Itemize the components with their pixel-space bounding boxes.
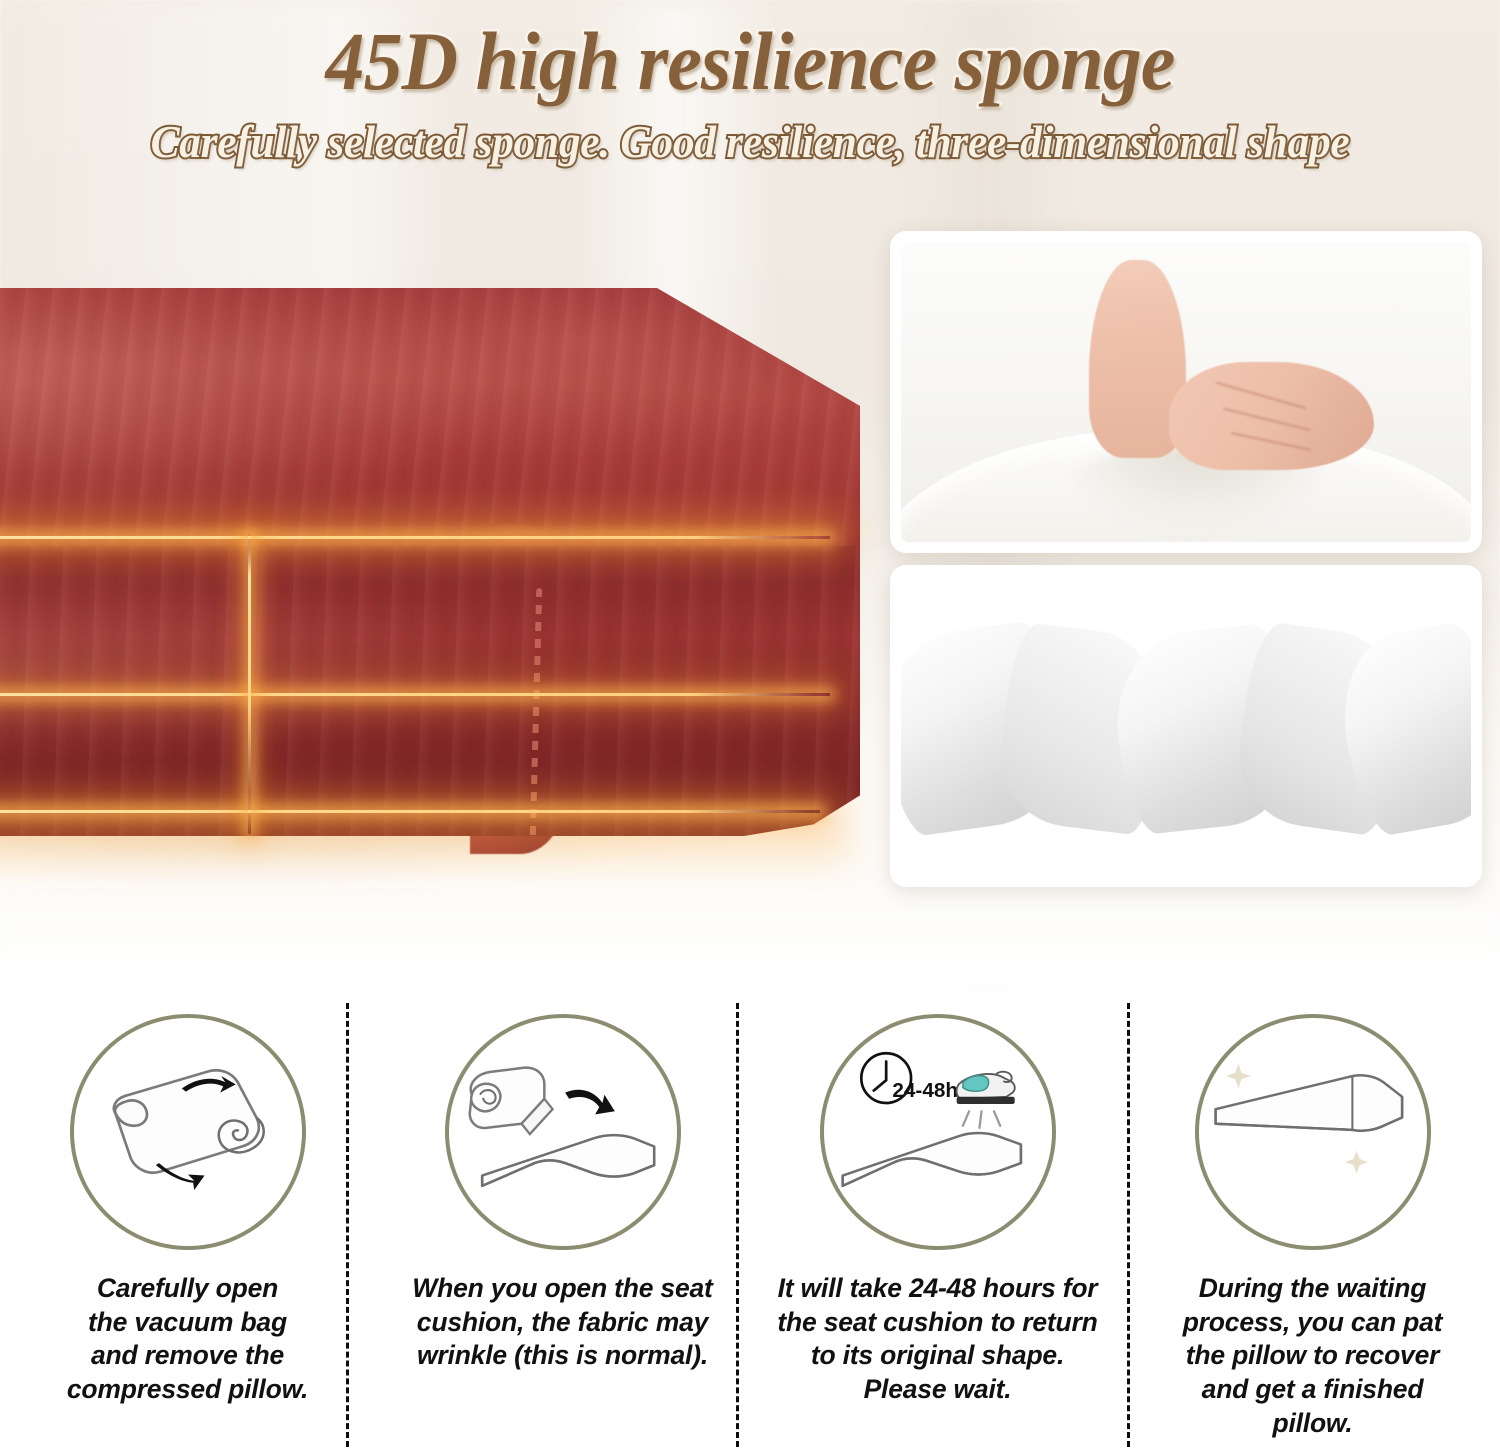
step-2-caption: When you open the seat cushion, the fabr… bbox=[398, 1272, 728, 1373]
finished-cushion-sparkle-icon bbox=[1199, 1018, 1427, 1246]
step-3-icon-circle: 24-48h bbox=[820, 1014, 1056, 1250]
unrolling-cushion-icon bbox=[449, 1018, 677, 1246]
page-title: 45D high resilience sponge bbox=[45, 18, 1455, 104]
hand-pressing-foam-photo bbox=[890, 231, 1482, 553]
step-1-icon-circle bbox=[70, 1014, 306, 1250]
instruction-step-3: 24-48h bbox=[750, 990, 1125, 1453]
cushion-side-profile bbox=[0, 546, 860, 836]
instruction-step-2: When you open the seat cushion, the fabr… bbox=[375, 990, 750, 1453]
cushion-top-surface bbox=[0, 288, 860, 556]
clock-duration-label: 24-48h bbox=[892, 1079, 958, 1102]
step-2-icon-circle bbox=[445, 1014, 681, 1250]
product-infographic-page: 45D high resilience sponge Carefully sel… bbox=[0, 0, 1500, 1453]
instruction-step-1: Carefully open the vacuum bag and remove… bbox=[0, 990, 375, 1453]
instruction-steps-section: Carefully open the vacuum bag and remove… bbox=[0, 990, 1500, 1453]
step-4-caption: During the waiting process, you can pat … bbox=[1148, 1272, 1478, 1440]
step-4-icon-circle bbox=[1195, 1014, 1431, 1250]
instruction-step-4: During the waiting process, you can pat … bbox=[1125, 990, 1500, 1453]
step-1-caption: Carefully open the vacuum bag and remove… bbox=[23, 1272, 353, 1407]
heading-block: 45D high resilience sponge Carefully sel… bbox=[0, 18, 1500, 168]
page-subtitle: Carefully selected sponge. Good resilien… bbox=[26, 118, 1474, 168]
twist-photo-inner bbox=[901, 576, 1471, 876]
twisted-foam-photo bbox=[890, 565, 1482, 887]
red-leather-seat-cushion bbox=[0, 288, 860, 858]
fingers-shape bbox=[1169, 362, 1374, 470]
steam-iron-icon bbox=[956, 1072, 1014, 1128]
hero-section: 45D high resilience sponge Carefully sel… bbox=[0, 0, 1500, 990]
clock-steam-iron-cushion-icon: 24-48h bbox=[824, 1018, 1052, 1246]
rolled-cushion-with-arrows-icon bbox=[74, 1018, 302, 1246]
step-3-caption: It will take 24-48 hours for the seat cu… bbox=[773, 1272, 1103, 1407]
finger-crease-1 bbox=[1215, 381, 1307, 410]
hand-photo-inner bbox=[901, 242, 1471, 542]
finger-crease-3 bbox=[1231, 431, 1312, 451]
finger-crease-2 bbox=[1223, 407, 1311, 432]
